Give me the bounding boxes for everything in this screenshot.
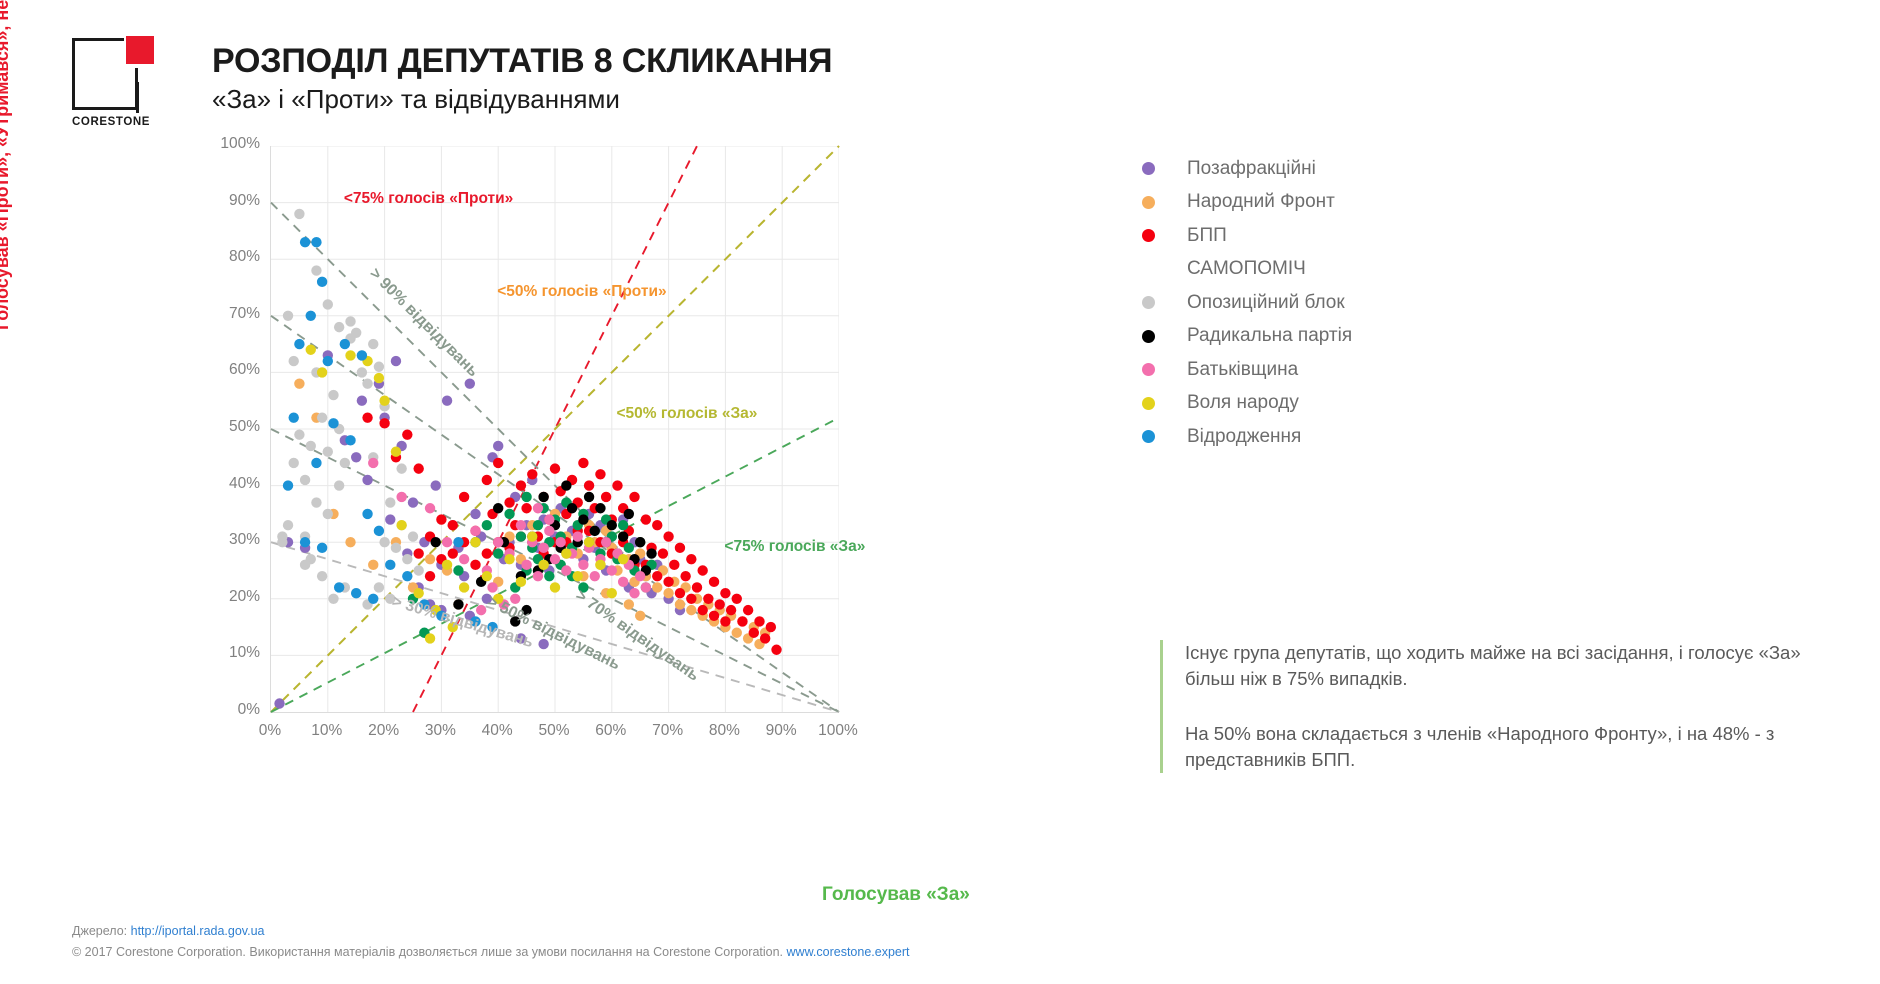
x-tick-label: 70% [638, 722, 698, 740]
y-tick-label: 0% [204, 701, 260, 719]
footer-copyright-text: © 2017 Corestone Corporation. Використан… [72, 945, 783, 959]
legend-item-2[interactable]: Народний Фронт [1142, 186, 1352, 220]
series-Опозиційний блок [277, 209, 424, 610]
y-tick-label: 30% [204, 531, 260, 549]
x-tick-label: 0% [240, 722, 300, 740]
x-tick-label: 60% [581, 722, 641, 740]
y-tick-label: 70% [204, 305, 260, 323]
legend-item-1[interactable]: Позафракційні [1142, 152, 1352, 186]
legend-item-7[interactable]: Батьківщина [1142, 353, 1352, 387]
y-tick-label: 10% [204, 644, 260, 662]
y-axis-title: Голосував «Проти», «Утримався», не голос… [0, 0, 13, 330]
x-tick-label: 20% [354, 722, 414, 740]
page-title: РОЗПОДІЛ ДЕПУТАТІВ 8 СКЛИКАННЯ [212, 42, 832, 81]
reference-line-label: <50% голосів «Проти» [497, 283, 666, 301]
legend-item-label: Радикальна партія [1187, 325, 1352, 347]
insight-note-paragraph-2: На 50% вона складається з членів «Народн… [1185, 721, 1835, 774]
x-tick-label: 100% [808, 722, 868, 740]
legend-item-label: Воля народу [1187, 392, 1299, 414]
reference-line-label: <75% голосів «Проти» [344, 190, 513, 208]
reference-line-label: <75% голосів «За» [724, 538, 865, 556]
legend-item-9[interactable]: Відродження [1142, 420, 1352, 454]
legend-item-label: САМОПОМІЧ [1187, 258, 1306, 280]
legend-color-swatch-icon [1142, 162, 1155, 175]
footer: Джерело: http://iportal.rada.gov.ua © 20… [72, 924, 910, 959]
y-tick-label: 20% [204, 588, 260, 606]
corestone-site-link[interactable]: www.corestone.expert [787, 945, 910, 959]
y-tick-label: 90% [204, 192, 260, 210]
footer-source-label: Джерело: [72, 924, 127, 938]
legend-color-swatch-icon [1142, 397, 1155, 410]
legend-color-swatch-icon [1142, 229, 1155, 242]
legend-item-4[interactable]: САМОПОМІЧ [1142, 253, 1352, 287]
y-tick-label: 60% [204, 361, 260, 379]
legend-item-label: Народний Фронт [1187, 191, 1335, 213]
y-tick-label: 80% [204, 248, 260, 266]
insight-note-paragraph-1: Існує група депутатів, що ходить майже н… [1185, 640, 1835, 693]
x-tick-label: 30% [410, 722, 470, 740]
insight-note: Існує група депутатів, що ходить майже н… [1160, 640, 1835, 773]
logo-wordmark: CORESTONE [72, 116, 150, 128]
legend-item-label: Батьківщина [1187, 359, 1298, 381]
legend-item-label: Позафракційні [1187, 158, 1316, 180]
source-link[interactable]: http://iportal.rada.gov.ua [131, 924, 265, 938]
x-tick-label: 50% [524, 722, 584, 740]
logo-stem [136, 82, 139, 113]
y-tick-label: 50% [204, 418, 260, 436]
logo-red-square [126, 36, 154, 64]
legend-item-3[interactable]: БПП [1142, 219, 1352, 253]
legend-item-8[interactable]: Воля народу [1142, 387, 1352, 421]
x-tick-label: 10% [297, 722, 357, 740]
legend-color-swatch-icon [1142, 263, 1155, 276]
reference-line-label: <50% голосів «За» [616, 405, 757, 423]
legend-color-swatch-icon [1142, 430, 1155, 443]
footer-source-line: Джерело: http://iportal.rada.gov.ua [72, 924, 910, 938]
y-tick-label: 100% [204, 135, 260, 153]
legend-item-6[interactable]: Радикальна партія [1142, 320, 1352, 354]
page-subtitle: «За» і «Проти» та відвідуваннями [212, 84, 620, 115]
x-tick-label: 40% [467, 722, 527, 740]
y-tick-label: 40% [204, 475, 260, 493]
legend-item-label: Опозиційний блок [1187, 292, 1345, 314]
x-tick-label: 80% [694, 722, 754, 740]
legend-item-label: Відродження [1187, 426, 1301, 448]
x-tick-label: 90% [751, 722, 811, 740]
legend-color-swatch-icon [1142, 330, 1155, 343]
corestone-logo: CORESTONE [72, 38, 154, 128]
legend-color-swatch-icon [1142, 296, 1155, 309]
footer-copyright-line: © 2017 Corestone Corporation. Використан… [72, 945, 910, 959]
legend-item-5[interactable]: Опозиційний блок [1142, 286, 1352, 320]
chart-legend: ПозафракційніНародний ФронтБППСАМОПОМІЧО… [1142, 152, 1352, 454]
legend-color-swatch-icon [1142, 196, 1155, 209]
legend-color-swatch-icon [1142, 363, 1155, 376]
legend-item-label: БПП [1187, 225, 1227, 247]
x-axis-title: Голосував «За» [822, 884, 970, 906]
